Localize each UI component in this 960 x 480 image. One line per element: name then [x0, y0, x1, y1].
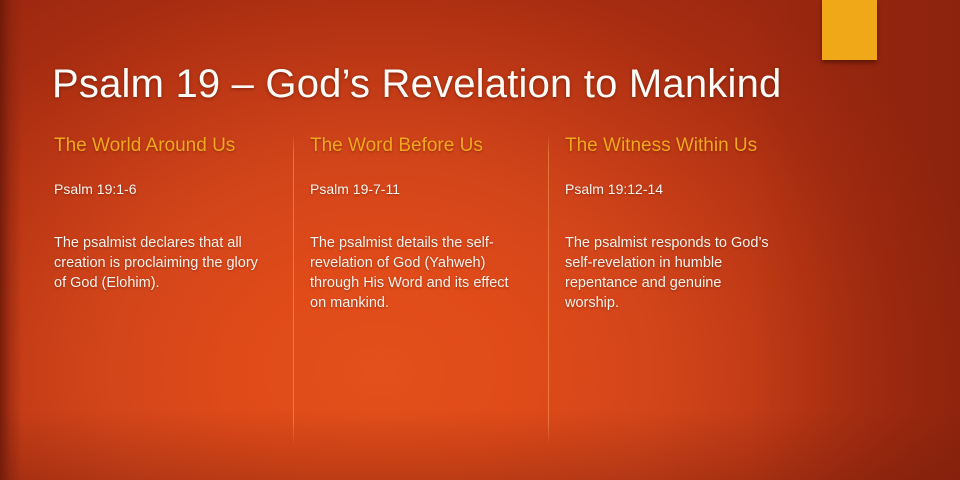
- column-heading: The Witness Within Us: [565, 134, 775, 158]
- column-body-text: The psalmist responds to God’s self-reve…: [565, 233, 770, 313]
- column-word-before-us: The Word Before Us Psalm 19-7-11 The psa…: [293, 134, 548, 454]
- column-scripture-reference: Psalm 19-7-11: [310, 180, 520, 199]
- column-world-around-us: The World Around Us Psalm 19:1-6 The psa…: [54, 134, 293, 454]
- slide-title: Psalm 19 – God’s Revelation to Mankind: [52, 59, 832, 109]
- column-body-text: The psalmist declares that all creation …: [54, 233, 265, 293]
- column-witness-within-us: The Witness Within Us Psalm 19:12-14 The…: [548, 134, 803, 454]
- column-body-text: The psalmist details the self-revelation…: [310, 233, 520, 313]
- column-heading: The World Around Us: [54, 134, 265, 158]
- three-column-layout: The World Around Us Psalm 19:1-6 The psa…: [0, 134, 960, 454]
- presentation-slide: Psalm 19 – God’s Revelation to Mankind T…: [0, 0, 960, 480]
- column-heading: The Word Before Us: [310, 134, 520, 158]
- gold-accent-block: [822, 0, 877, 60]
- column-scripture-reference: Psalm 19:1-6: [54, 180, 265, 199]
- column-scripture-reference: Psalm 19:12-14: [565, 180, 775, 199]
